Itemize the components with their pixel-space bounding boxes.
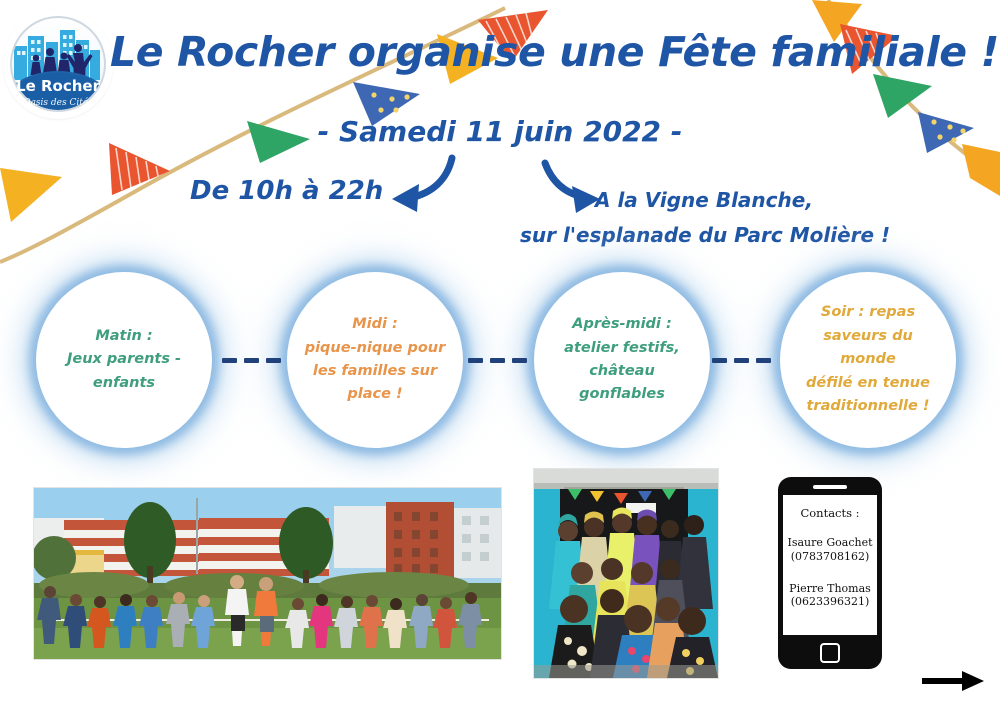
event-location-line1: A la Vigne Blanche, bbox=[520, 183, 900, 218]
photo-tug-of-war bbox=[33, 487, 502, 660]
contact-phone[interactable]: (0783708162) bbox=[787, 550, 872, 564]
arrow-right-icon bbox=[922, 668, 988, 694]
program-line: place ! bbox=[300, 383, 450, 406]
program-line: Jeux parents - bbox=[49, 348, 199, 371]
poster-root: Le Rocher Oasis des Cités Le Rocher orga… bbox=[0, 0, 1000, 706]
contact-phone[interactable]: (0623396321) bbox=[789, 595, 871, 609]
program-line: Après-midi : bbox=[547, 313, 697, 336]
event-date: - Samedi 11 juin 2022 - bbox=[180, 115, 820, 148]
curved-arrow-down-left-icon bbox=[392, 158, 452, 212]
program-line: atelier festifs, bbox=[547, 337, 697, 360]
program-circle-midi-text: Midi : pique-nique pour les familles sur… bbox=[300, 313, 450, 407]
timeline-separator-2 bbox=[468, 358, 527, 363]
program-circle-soir: Soir : repas saveurs du monde défilé en … bbox=[780, 272, 956, 448]
photo-tug-of-war-image bbox=[34, 488, 501, 659]
program-line: traditionnelle ! bbox=[793, 395, 943, 418]
program-line: pique-nique pour bbox=[300, 337, 450, 360]
bunting-flag-left-5 bbox=[109, 143, 170, 195]
program-circle-apres-midi: Après-midi : atelier festifs, château go… bbox=[534, 272, 710, 448]
contact-person-2: Pierre Thomas (0623396321) bbox=[789, 582, 871, 610]
program-circle-midi: Midi : pique-nique pour les familles sur… bbox=[287, 272, 463, 448]
bunting-flag-right-4 bbox=[918, 112, 974, 153]
contacts-phone: Contacts : Isaure Goachet (0783708162) P… bbox=[778, 477, 882, 669]
program-circle-soir-text: Soir : repas saveurs du monde défilé en … bbox=[793, 301, 943, 418]
program-circle-matin-text: Matin : Jeux parents - enfants bbox=[49, 325, 199, 395]
program-line: château gonflables bbox=[547, 360, 697, 407]
program-line: Midi : bbox=[300, 313, 450, 336]
contact-name: Pierre Thomas bbox=[789, 582, 871, 596]
bunting-flag-right-3 bbox=[873, 74, 932, 118]
phone-speaker bbox=[813, 485, 847, 489]
program-circle-apres-midi-text: Après-midi : atelier festifs, château go… bbox=[547, 313, 697, 407]
event-location: A la Vigne Blanche, sur l'esplanade du P… bbox=[520, 183, 900, 253]
event-hours: De 10h à 22h bbox=[190, 176, 383, 206]
bunting-flag-left-6 bbox=[0, 168, 62, 222]
photo-group-traditional bbox=[533, 468, 719, 679]
program-line: enfants bbox=[49, 372, 199, 395]
phone-screen: Contacts : Isaure Goachet (0783708162) P… bbox=[783, 495, 877, 635]
le-rocher-logo: Le Rocher Oasis des Cités bbox=[6, 12, 110, 116]
page-title: Le Rocher organise une Fête familiale ! bbox=[110, 28, 900, 76]
contact-name: Isaure Goachet bbox=[787, 536, 872, 550]
svg-text:Oasis des Cités: Oasis des Cités bbox=[23, 97, 93, 108]
svg-text:Le Rocher: Le Rocher bbox=[16, 77, 101, 95]
program-line: les familles sur bbox=[300, 360, 450, 383]
program-line: Soir : repas bbox=[793, 301, 943, 324]
bunting-flag-right-5 bbox=[962, 144, 1000, 196]
timeline-separator-1 bbox=[222, 358, 281, 363]
program-line: Matin : bbox=[49, 325, 199, 348]
logo-artwork: Le Rocher Oasis des Cités bbox=[6, 12, 110, 116]
bunting-string-right bbox=[828, 0, 1000, 178]
program-line: saveurs du monde bbox=[793, 325, 943, 372]
event-location-line2: sur l'esplanade du Parc Molière ! bbox=[520, 218, 900, 253]
contacts-title: Contacts : bbox=[800, 506, 859, 520]
contact-person-1: Isaure Goachet (0783708162) bbox=[787, 536, 872, 564]
phone-home-button[interactable] bbox=[820, 643, 840, 663]
program-circle-matin: Matin : Jeux parents - enfants bbox=[36, 272, 212, 448]
photo-group-traditional-image bbox=[534, 469, 718, 678]
timeline-separator-3 bbox=[712, 358, 771, 363]
program-line: défilé en tenue bbox=[793, 372, 943, 395]
